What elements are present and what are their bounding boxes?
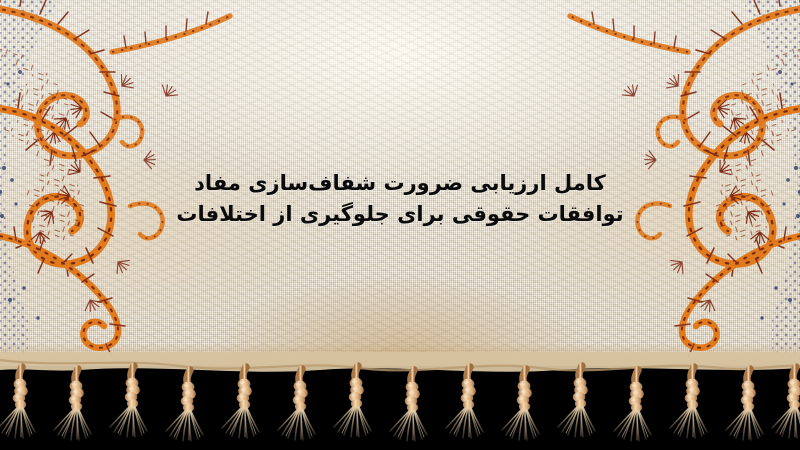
lower-black-band [0, 366, 800, 450]
slide-title: کامل ارزیابی ضرورت شفاف‌سازی مفاد توافقا… [0, 168, 800, 230]
slide-canvas: کامل ارزیابی ضرورت شفاف‌سازی مفاد توافقا… [0, 0, 800, 450]
title-line-1: کامل ارزیابی ضرورت شفاف‌سازی مفاد [0, 168, 800, 199]
title-line-2: توافقات حقوقی برای جلوگیری از اختلافات [0, 199, 800, 230]
